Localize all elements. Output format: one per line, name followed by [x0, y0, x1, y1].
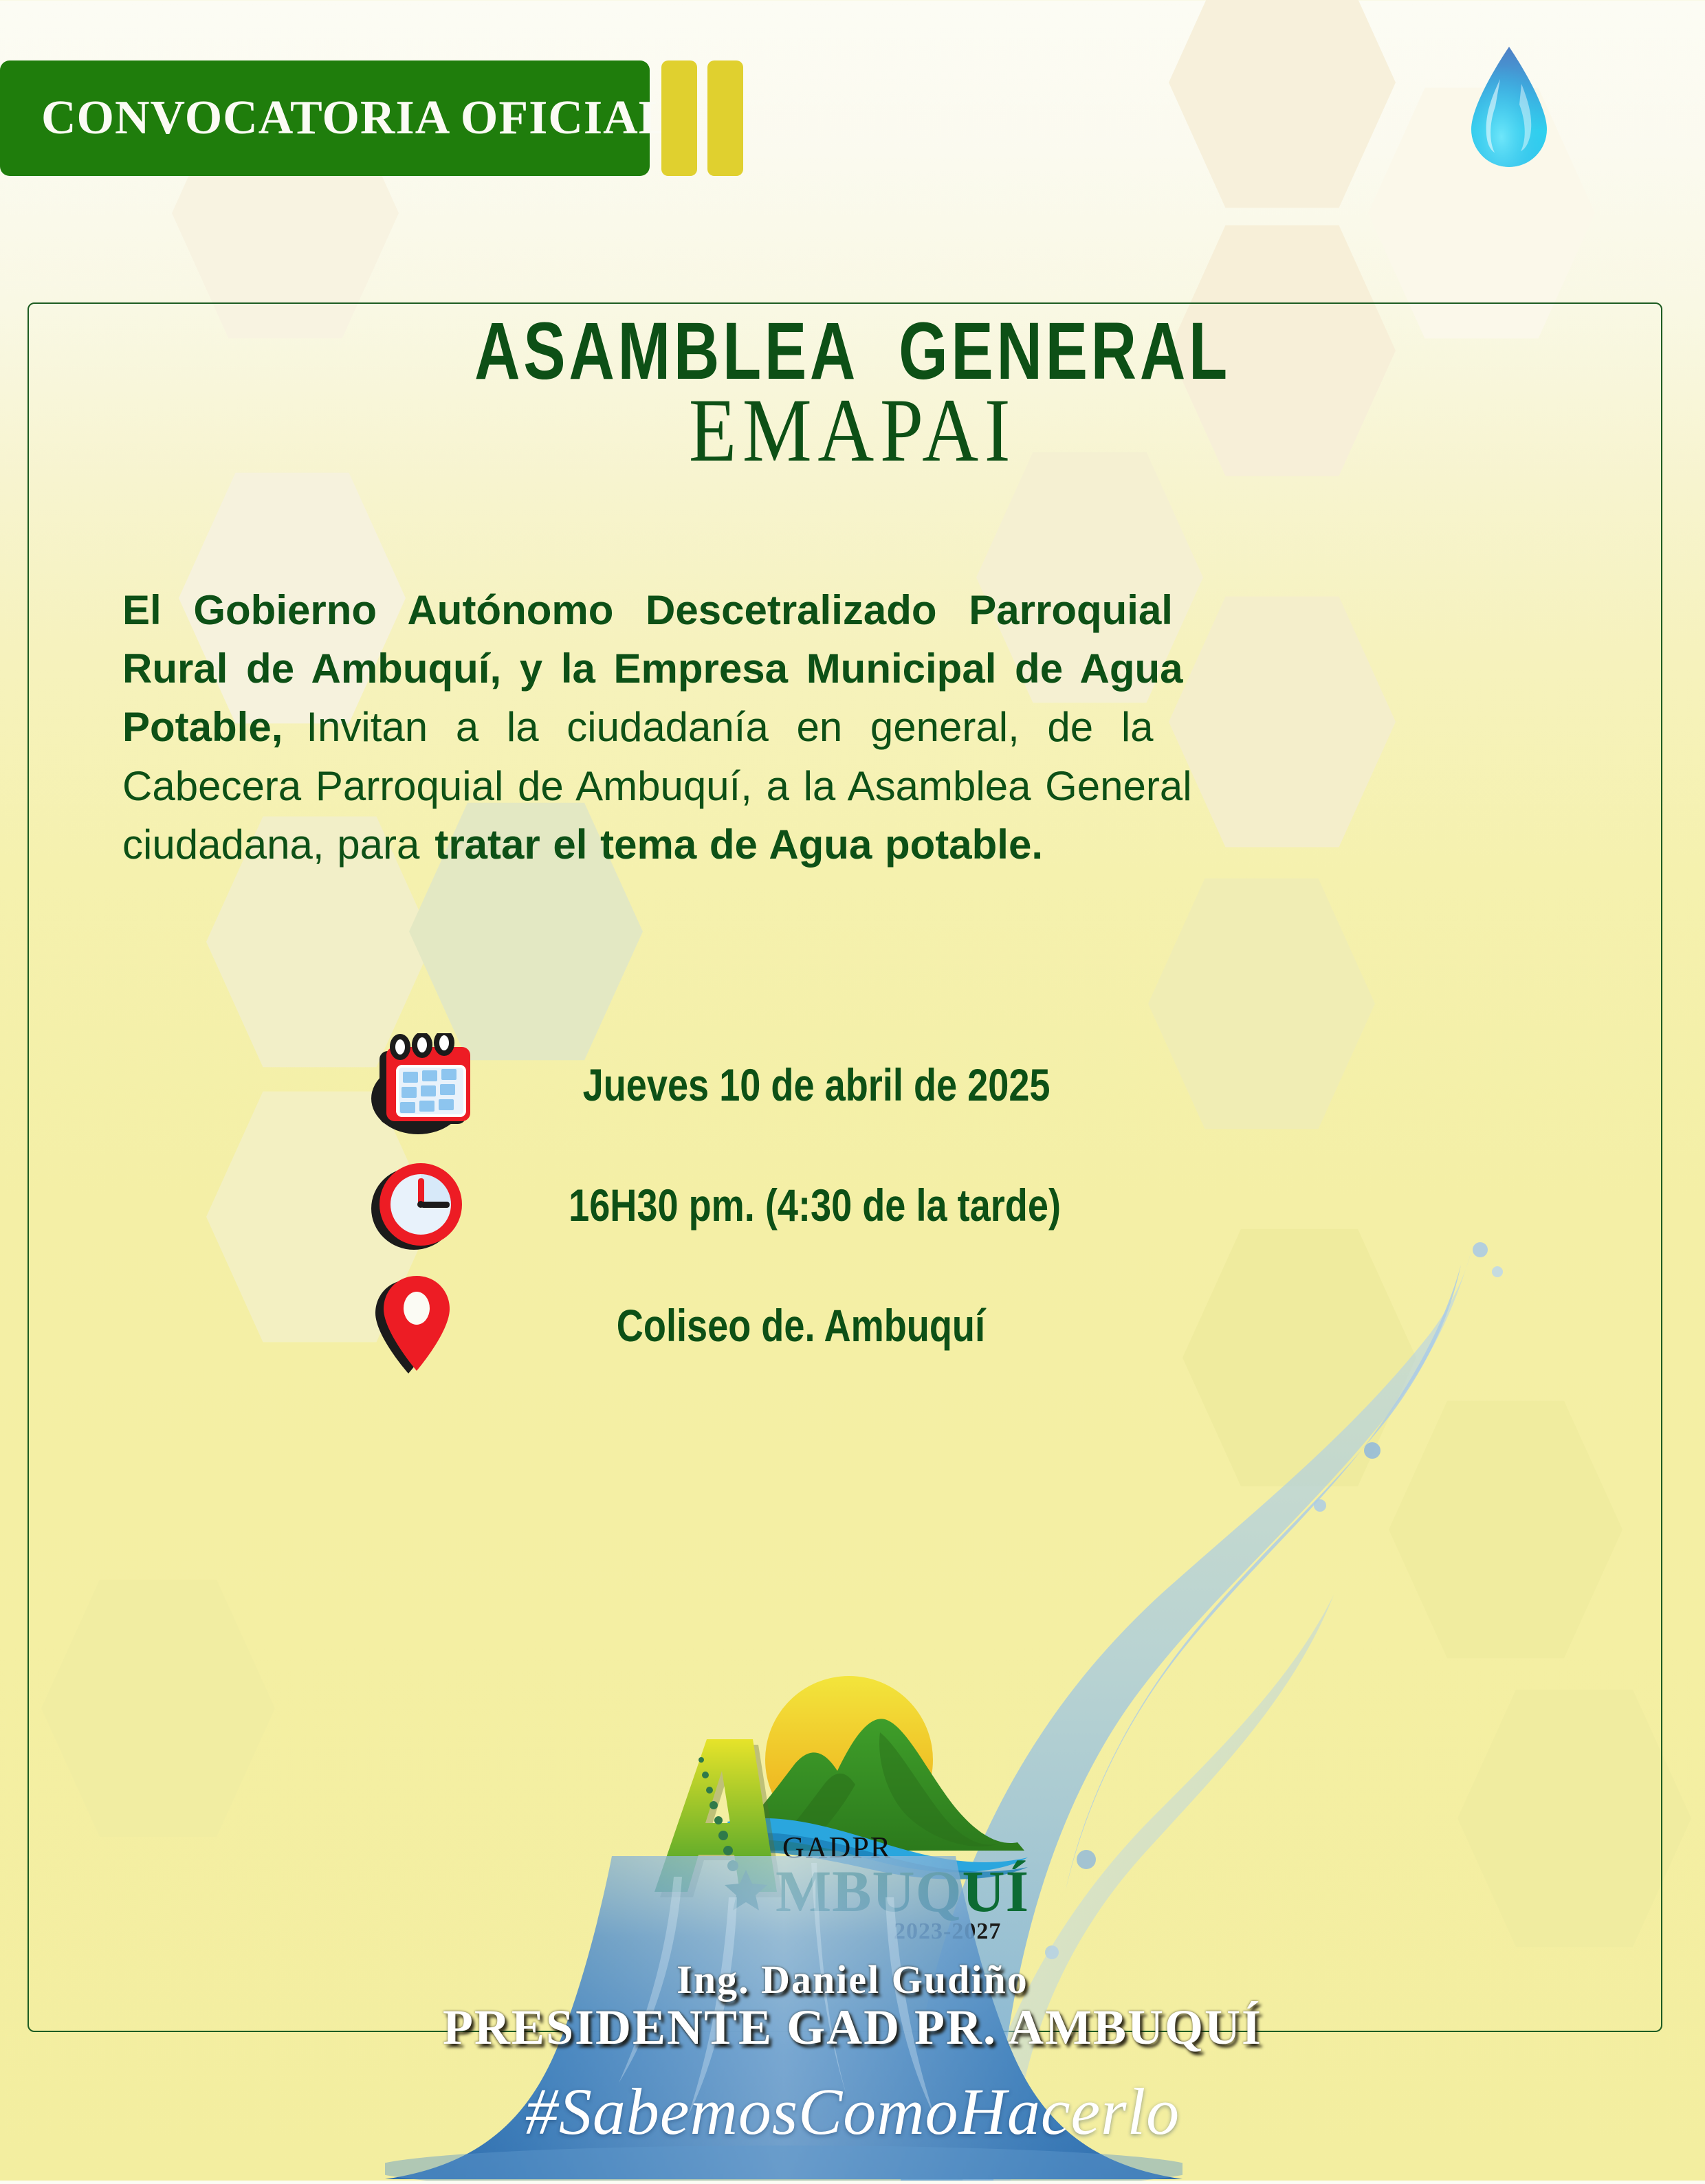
body-line-1: El Gobierno Autónomo Descetralizado Parr…: [122, 587, 1173, 633]
body-line-3-rest: Invitan a la ciudadanía en general, de l…: [283, 704, 1153, 750]
body-line-3-bold: Potable,: [122, 704, 283, 750]
body-line-5-bold: tratar el tema de Agua potable.: [419, 821, 1043, 868]
event-date-label: Jueves 10 de abril de 2025: [481, 1059, 1050, 1111]
event-detail-time: 16H30 pm. (4:30 de la tarde): [357, 1145, 1457, 1265]
signature-role: PRESIDENTE GAD PR. AMBUQUÍ: [0, 2002, 1705, 2053]
svg-text:MBUQUÍ: MBUQUÍ: [775, 1858, 1029, 1924]
location-pin-icon: [357, 1270, 481, 1380]
footer-hashtag: #SabemosComoHacerlo: [0, 2073, 1705, 2150]
body-line-5-pre: ciudadana, para: [122, 821, 419, 868]
accent-bar-2: [707, 60, 743, 176]
svg-text:2023-2027: 2023-2027: [894, 1919, 1001, 1944]
clock-icon: [357, 1154, 481, 1257]
signature-name: Ing. Daniel Gudiño: [676, 1957, 1028, 2002]
event-location-label: Coliseo de. Ambuquí: [481, 1299, 985, 1352]
page-title-line2: EMAPAI: [120, 385, 1586, 476]
official-announcement-banner: CONVOCATORIA OFICIAL: [0, 60, 650, 176]
announcement-body: El Gobierno Autónomo Descetralizado Parr…: [122, 581, 1584, 874]
body-line-4: Cabecera Parroquial de Ambuquí, a la Asa…: [122, 763, 1192, 809]
hexagon-shape: [1169, 0, 1396, 213]
water-drop-icon: [1457, 41, 1561, 179]
gadpr-ambuqui-logo: GADPR MBUQUÍ 2023-2027: [605, 1636, 1086, 1966]
accent-bar-1: [661, 60, 697, 176]
event-time-label: 16H30 pm. (4:30 de la tarde): [481, 1179, 1061, 1231]
event-detail-date: Jueves 10 de abril de 2025: [357, 1024, 1457, 1145]
banner-label: CONVOCATORIA OFICIAL: [0, 91, 671, 146]
body-line-2: Rural de Ambuquí, y la Empresa Municipal…: [122, 646, 1183, 692]
event-detail-location: Coliseo de. Ambuquí: [357, 1265, 1457, 1385]
signature-block: Ing. Daniel Gudiño PRESIDENTE GAD PR. AM…: [0, 1959, 1705, 2053]
calendar-icon: [357, 1033, 481, 1136]
event-details-list: Jueves 10 de abril de 2025 16H30 pm. (4:…: [357, 1024, 1457, 1385]
